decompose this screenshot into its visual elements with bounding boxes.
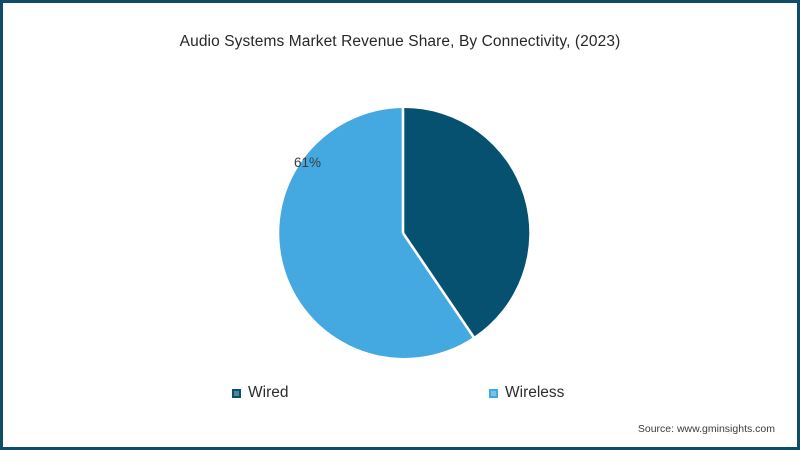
source-attribution: Source: www.gminsights.com xyxy=(638,423,775,435)
legend-item-wired[interactable]: Wired xyxy=(232,381,288,405)
chart-screenshot: Audio Systems Market Revenue Share, By C… xyxy=(0,0,800,450)
chart-canvas: Audio Systems Market Revenue Share, By C… xyxy=(3,3,797,447)
legend-label-wired: Wired xyxy=(248,384,288,402)
legend-label-wireless: Wireless xyxy=(505,384,564,402)
legend-swatch-icon-wired xyxy=(232,389,241,398)
legend: Wired Wireless xyxy=(3,381,797,405)
legend-swatch-icon-wireless xyxy=(489,389,498,398)
legend-item-wireless[interactable]: Wireless xyxy=(489,381,564,405)
pie-chart-svg xyxy=(274,104,532,362)
pie-slice-label-wireless: 61% xyxy=(241,155,321,170)
